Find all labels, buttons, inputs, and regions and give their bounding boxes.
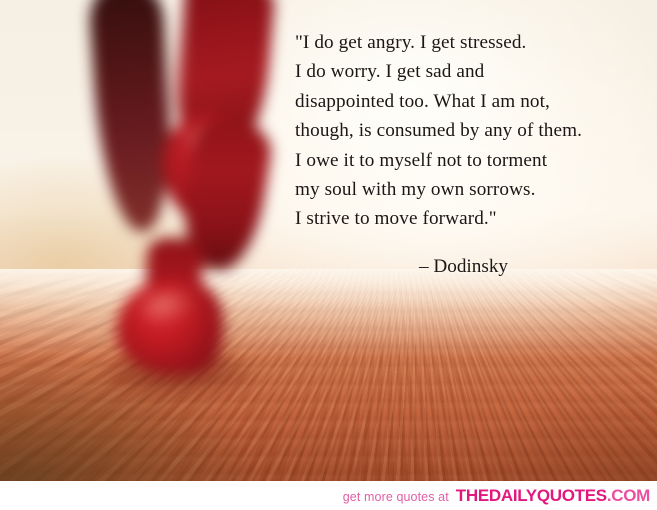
footer-bar: get more quotes at THEDAILYQUOTES .COM — [0, 481, 657, 510]
quote-text-block: "I do get angry. I get stressed. I do wo… — [295, 28, 645, 234]
brand-name-label: THEDAILYQUOTES — [456, 486, 607, 506]
promo-prefix-label: get more quotes at — [343, 490, 449, 504]
quote-line: I owe it to myself not to torment — [295, 146, 645, 175]
quote-line: "I do get angry. I get stressed. — [295, 28, 645, 57]
quote-line: I strive to move forward." — [295, 204, 645, 233]
runner-silhouette — [0, 0, 300, 420]
quote-line: my soul with my own sorrows. — [295, 175, 645, 204]
quote-line: disappointed too. What I am not, — [295, 87, 645, 116]
vignette-bottom-right — [407, 356, 657, 481]
quote-poster: "I do get angry. I get stressed. I do wo… — [0, 0, 657, 510]
background-photo: "I do get angry. I get stressed. I do wo… — [0, 0, 657, 481]
quote-attribution: – Dodinsky — [419, 253, 508, 281]
promo-credit[interactable]: get more quotes at THEDAILYQUOTES .COM — [343, 486, 657, 506]
quote-line: I do worry. I get sad and — [295, 57, 645, 86]
brand-tld-label: .COM — [607, 486, 650, 506]
quote-line: though, is consumed by any of them. — [295, 116, 645, 145]
